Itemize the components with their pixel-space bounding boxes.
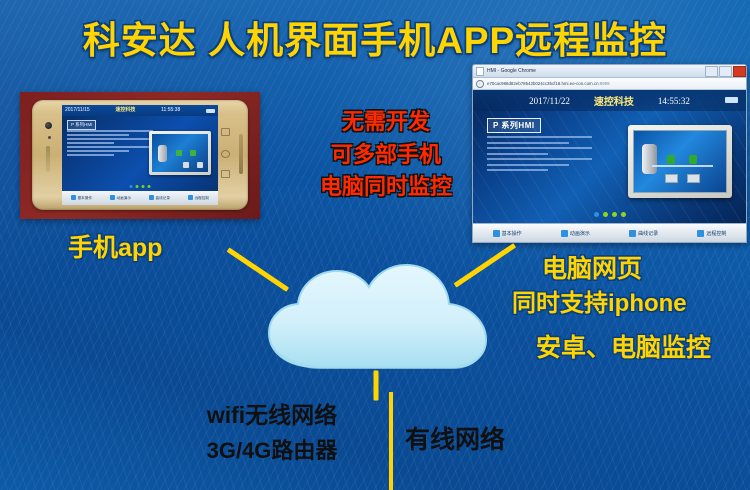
phone-fingerprint-sensor [239, 134, 243, 174]
page-nav-item-0[interactable]: 基本操作 [493, 230, 522, 237]
page-hmi-device-image [628, 125, 732, 198]
page-time: 14:55:32 [658, 96, 690, 106]
page-heading: P 系列HMI [487, 118, 541, 133]
wifi-caption: wifi无线网络 3G/4G路由器 [172, 398, 372, 468]
phone-app-navbar[interactable]: 基本操作 动画演示 曲线记录 远程控制 [62, 191, 218, 205]
hmi-tank-graphic [642, 144, 657, 174]
center-callout-line-3: 电脑同时监控 [296, 171, 476, 204]
phone-sensor-icon [48, 136, 51, 139]
page-hmi-screen [633, 130, 727, 193]
browser-window: HMI - Google Chrome i e70cac986d82eb7854… [472, 64, 747, 243]
page-nav-item-3[interactable]: 远程控制 [697, 230, 726, 237]
phone-recents-key [221, 128, 230, 136]
window-controls[interactable] [704, 66, 746, 77]
phone-caption: 手机app [68, 228, 162, 264]
center-callout: 无需开发 可多部手机 电脑同时监控 [296, 106, 476, 204]
phone-app-hmi-screen [152, 134, 208, 172]
address-bar-url[interactable]: e70cac986d82eb78542b024cc35cf18.hmi.ee-c… [487, 81, 610, 86]
maximize-button[interactable] [719, 66, 732, 77]
phone-photo: 2017/11/15 速控科技 11:55:38 P 系列HMI 基本操作 [20, 92, 260, 219]
pc-caption-line-3: 安卓、电脑监控 [536, 331, 711, 366]
wifi-caption-line-1: wifi无线网络 [172, 398, 372, 434]
browser-address-bar[interactable]: i e70cac986d82eb78542b024cc35cf18.hmi.ee… [473, 78, 746, 90]
site-info-icon[interactable]: i [476, 80, 484, 88]
phone-camera-icon [45, 122, 52, 129]
phone-app-date: 2017/11/15 [65, 108, 90, 113]
phone-app-hmi-device-image [149, 131, 211, 175]
phone-app-body-text [67, 130, 153, 158]
phone-nav-item-3[interactable]: 远程控制 [188, 195, 209, 201]
vertical-divider [389, 392, 393, 490]
page-battery-icon [725, 97, 738, 103]
hmi-pipe-graphic [652, 165, 713, 167]
phone-back-key [221, 170, 230, 178]
pc-caption-line-2: 同时支持iphone [512, 287, 711, 321]
cloud-graphic [255, 255, 500, 380]
minimize-button[interactable] [705, 66, 718, 77]
center-callout-line-2: 可多部手机 [296, 139, 476, 172]
phone-home-key [221, 150, 230, 158]
close-button[interactable] [733, 66, 746, 77]
center-callout-line-1: 无需开发 [296, 106, 476, 139]
phone-app-brand: 速控科技 [115, 108, 135, 113]
page-title: 科安达 人机界面手机APP远程监控 [0, 10, 750, 64]
wired-caption: 有线网络 [405, 420, 505, 456]
phone-nav-item-0[interactable]: 基本操作 [71, 195, 92, 201]
page-navbar[interactable]: 基本操作 动画演示 曲线记录 远程控制 [473, 223, 746, 243]
phone-app-topbar: 2017/11/15 速控科技 11:55:38 [62, 105, 218, 116]
battery-icon [206, 109, 215, 113]
phone-body: 2017/11/15 速控科技 11:55:38 P 系列HMI 基本操作 [32, 100, 248, 210]
hmi-valve-1 [667, 155, 675, 164]
pc-caption: 电脑网页 同时支持iphone 安卓、电脑监控 [542, 252, 711, 366]
page-body-text [487, 136, 592, 175]
page-header-bar: 2017/11/22 速控科技 14:55:32 [473, 90, 746, 111]
page-date: 2017/11/22 [529, 96, 570, 106]
browser-page-content: 2017/11/22 速控科技 14:55:32 P 系列HMI [473, 90, 746, 243]
phone-app-heading: P 系列HMI [67, 120, 96, 130]
phone-speaker [46, 146, 50, 172]
browser-titlebar[interactable]: HMI - Google Chrome [473, 65, 746, 78]
phone-app-time: 11:55:38 [161, 108, 180, 113]
url-host: e70cac986d82eb78542b024cc35cf18.hmi.ee-c… [487, 81, 599, 86]
wifi-caption-line-2: 3G/4G路由器 [172, 434, 372, 468]
browser-tab-icon [476, 67, 484, 76]
page-brand: 速控科技 [594, 93, 634, 108]
page-nav-item-2[interactable]: 曲线记录 [629, 230, 658, 237]
phone-app-carousel-dots[interactable] [130, 185, 151, 188]
pc-caption-line-1: 电脑网页 [542, 252, 711, 287]
poster-canvas: 科安达 人机界面手机APP远程监控 2017/11/15 速控科技 11:55:… [0, 0, 750, 490]
phone-nav-item-2[interactable]: 曲线记录 [149, 195, 170, 201]
url-port: :9999 [599, 81, 610, 86]
hmi-readout-2 [687, 174, 700, 183]
hmi-valve-2 [689, 155, 697, 164]
page-carousel-dots[interactable] [594, 212, 626, 217]
phone-nav-item-1[interactable]: 动画演示 [110, 195, 131, 201]
page-nav-item-1[interactable]: 动画演示 [561, 230, 590, 237]
browser-window-title: HMI - Google Chrome [487, 68, 536, 74]
phone-screen: 2017/11/15 速控科技 11:55:38 P 系列HMI 基本操作 [62, 105, 218, 205]
hmi-readout-1 [665, 174, 678, 183]
